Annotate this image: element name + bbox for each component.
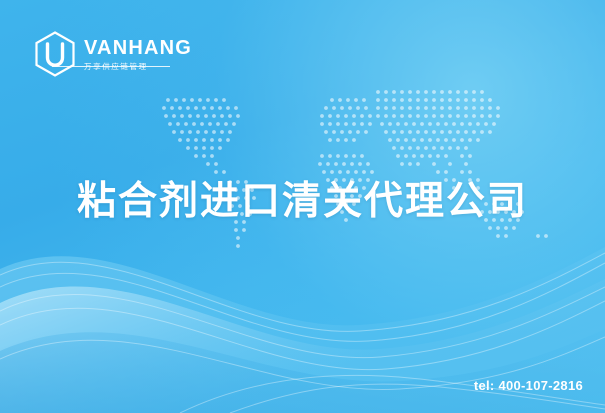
page-title: 粘合剂进口清关代理公司 [0,178,605,226]
brand-name: VANHANG [84,38,192,58]
contact-phone[interactable]: tel: 400-107-2816 [474,378,583,393]
hexagon-u-logo-icon [34,31,76,77]
marketing-banner: VANHANG 万享供应链管理 粘合剂进口清关代理公司 tel: 400-107… [0,0,605,413]
logo-divider [52,66,170,67]
brand-logo[interactable]: VANHANG 万享供应链管理 [34,30,192,78]
